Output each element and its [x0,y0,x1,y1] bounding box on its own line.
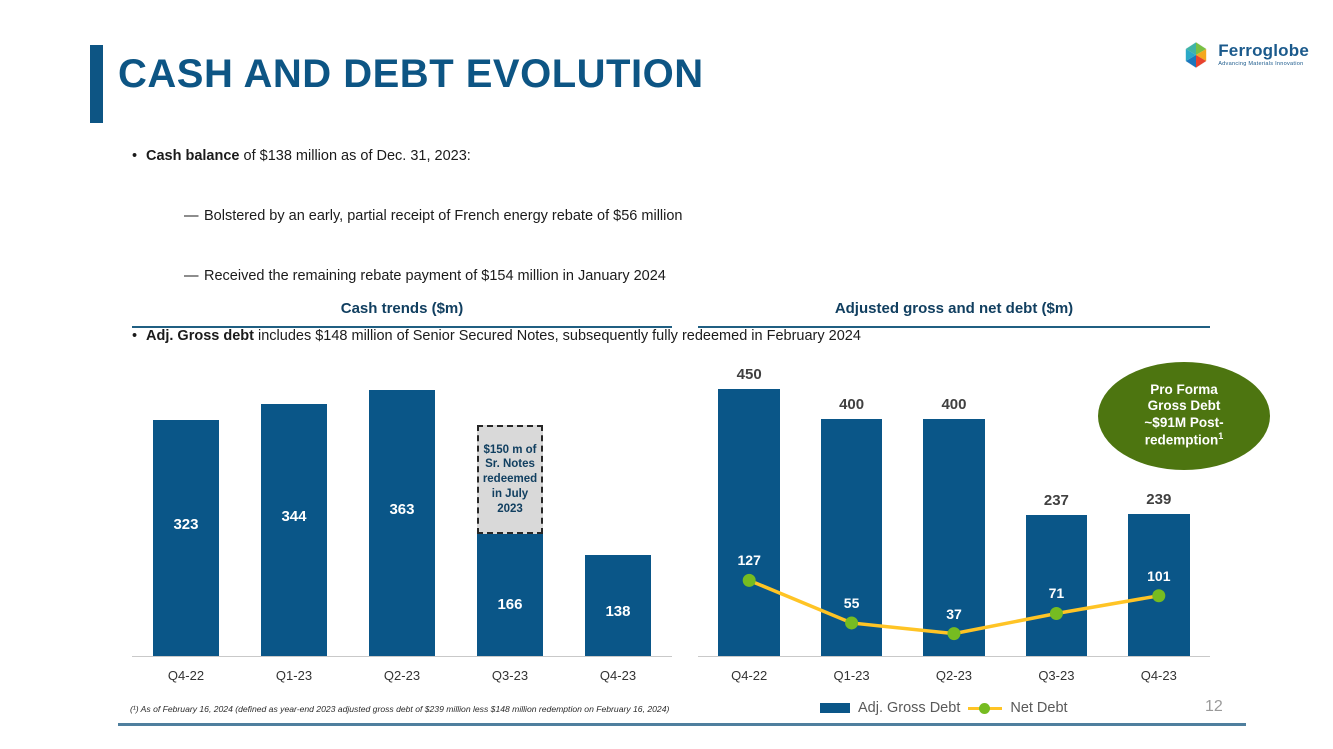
dash-glyph: — [184,268,204,284]
xtick-Q4-23: Q4-23 [1128,668,1189,683]
bar-Q1-23: 344 [261,404,328,655]
bullet-1-bold: Cash balance [146,148,240,164]
pro-forma-callout: Pro FormaGross Debt~$91M Post-redemption… [1098,362,1270,470]
xtick-Q3-23: Q3-23 [1026,668,1087,683]
chart-legend: Adj. Gross Debt Net Debt [820,700,1068,716]
net-debt-value-label: 37 [946,606,962,622]
ferroglobe-mark-icon [1181,40,1211,70]
debt-chart: 450400400237239127553771101Pro FormaGros… [698,342,1210,687]
legend-gross-swatch [820,703,850,713]
bar-Q2-23: 363 [369,390,436,655]
legend-gross-label: Adj. Gross Debt [858,700,960,716]
net-debt-point-Q4-22 [743,574,756,587]
net-debt-value-label: 55 [844,595,860,611]
page-number: 12 [1205,698,1223,716]
bullet-1-rest: of $138 million as of Dec. 31, 2023: [240,148,471,164]
title-accent-bar [90,45,103,123]
legend-net-label: Net Debt [1010,700,1067,716]
debt-chart-title: Adjusted gross and net debt ($m) [698,300,1210,317]
bullet-subitem-2: — Received the remaining rebate payment … [184,268,1112,284]
bar-Q4-23: 138 [585,555,652,656]
logo-wordmark: Ferroglobe [1218,42,1309,59]
xtick-Q4-22: Q4-22 [153,668,220,683]
net-debt-value-label: 101 [1147,568,1170,584]
net-debt-point-Q4-23 [1152,589,1165,602]
bullet-subitem-1-text: Bolstered by an early, partial receipt o… [204,208,683,224]
cash-trends-axis [132,656,672,658]
cash-trends-chart: 323344363166138$150 m of Sr. Notes redee… [132,342,672,687]
xtick-Q1-23: Q1-23 [821,668,882,683]
bullet-glyph: • [132,148,146,164]
bar-value-label: 166 [477,596,544,613]
xtick-Q2-23: Q2-23 [923,668,984,683]
senior-notes-annotation-box: $150 m of Sr. Notes redeemed in July 202… [477,425,544,535]
bar-value-label: 323 [153,516,220,533]
xtick-Q3-23: Q3-23 [477,668,544,683]
company-logo: Ferroglobe Advancing Materials Innovatio… [1181,40,1309,70]
debt-panel: Adjusted gross and net debt ($m) 4504004… [698,300,1210,687]
cash-trends-plot: 323344363166138$150 m of Sr. Notes redee… [132,342,672,656]
logo-tagline: Advancing Materials Innovation [1218,62,1309,68]
cash-trends-panel: Cash trends ($m) 323344363166138$150 m o… [132,300,672,687]
bar-Q3-23: 166 [477,534,544,655]
bar-value-label: 344 [261,508,328,525]
net-debt-point-Q3-23 [1050,607,1063,620]
debt-chart-rule [698,326,1210,328]
footer-divider [118,723,1246,726]
bar-Q4-22: 323 [153,420,220,656]
cash-trends-title: Cash trends ($m) [132,300,672,317]
slide: CASH AND DEBT EVOLUTION Ferroglobe Advan… [0,0,1333,749]
bullet-subitem-2-text: Received the remaining rebate payment of… [204,268,666,284]
bar-value-label: 363 [369,501,436,518]
bullet-item-1: • Cash balance of $138 million as of Dec… [132,148,1112,164]
xtick-Q4-23: Q4-23 [585,668,652,683]
footnote: (¹) As of February 16, 2024 (defined as … [130,704,800,714]
net-debt-point-Q2-23 [948,627,961,640]
dash-glyph: — [184,208,204,224]
net-debt-value-label: 71 [1049,585,1065,601]
debt-chart-axis [698,656,1210,658]
xtick-Q1-23: Q1-23 [261,668,328,683]
net-debt-point-Q1-23 [845,616,858,629]
cash-trends-rule [132,326,672,328]
bullet-subitem-1: — Bolstered by an early, partial receipt… [184,208,1112,224]
page-title: CASH AND DEBT EVOLUTION [118,52,704,96]
debt-chart-plot: 450400400237239127553771101Pro FormaGros… [698,342,1210,656]
bar-value-label: 138 [585,603,652,620]
legend-net-marker-icon [968,702,1002,714]
xtick-Q4-22: Q4-22 [718,668,779,683]
xtick-Q2-23: Q2-23 [369,668,436,683]
net-debt-value-label: 127 [738,552,761,568]
